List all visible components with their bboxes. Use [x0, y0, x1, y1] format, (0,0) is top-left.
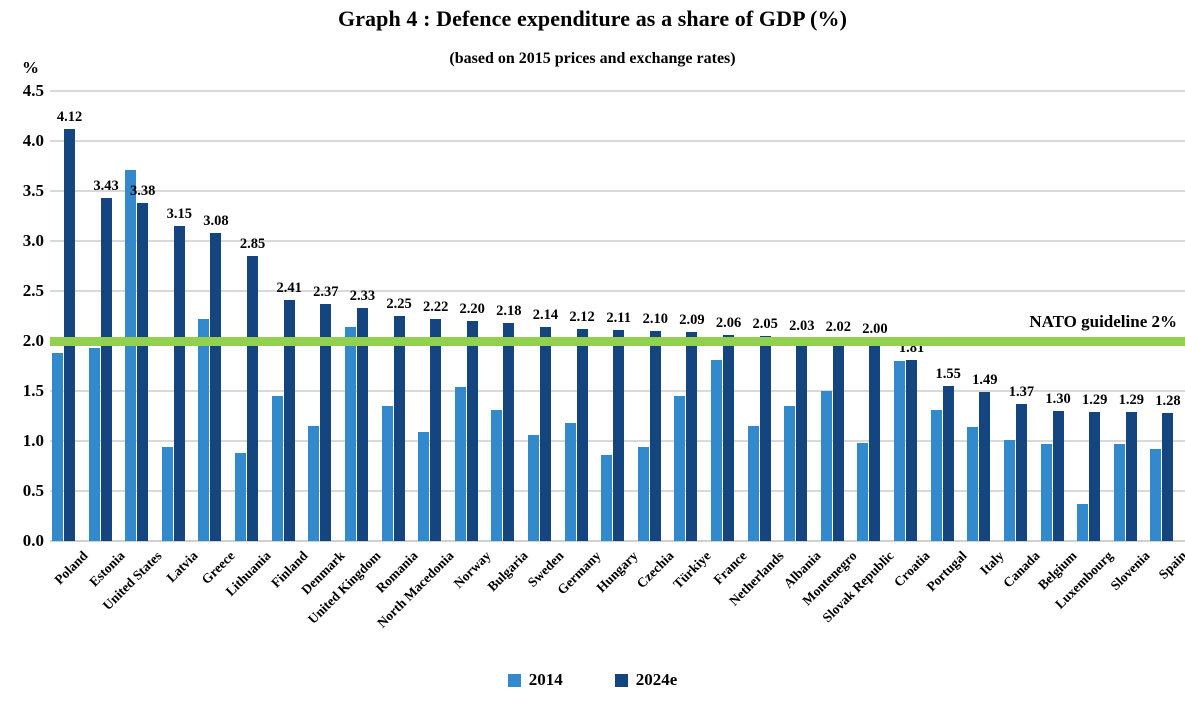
legend-item-2024e[interactable]: 2024e — [615, 670, 678, 690]
bar-group: 3.15 — [160, 91, 197, 541]
y-axis-tick-label: 0.5 — [0, 481, 44, 501]
bar-group: 1.55 — [929, 91, 966, 541]
bar-2024e[interactable] — [650, 331, 661, 541]
bar-group: 1.49 — [965, 91, 1002, 541]
bar-value-label: 1.28 — [1138, 393, 1185, 410]
y-axis-tick-label: 3.0 — [0, 231, 44, 251]
legend-label: 2024e — [636, 670, 678, 690]
bar-2014[interactable] — [711, 360, 722, 541]
bar-2024e[interactable] — [613, 330, 624, 541]
bar-2014[interactable] — [491, 410, 502, 541]
bar-2014[interactable] — [345, 327, 356, 541]
bar-2024e[interactable] — [1126, 412, 1137, 541]
bar-group: 1.81 — [892, 91, 929, 541]
bar-group: 2.02 — [819, 91, 856, 541]
bar-group: 2.25 — [380, 91, 417, 541]
bar-2024e[interactable] — [430, 319, 441, 541]
x-axis-category-label: Czechia — [634, 548, 678, 592]
legend-label: 2014 — [529, 670, 563, 690]
bar-group: 2.41 — [270, 91, 307, 541]
bar-2014[interactable] — [198, 319, 209, 541]
bar-2014[interactable] — [565, 423, 576, 541]
bar-2024e[interactable] — [210, 233, 221, 541]
bar-2014[interactable] — [162, 447, 173, 541]
bar-2014[interactable] — [382, 406, 393, 541]
bar-2024e[interactable] — [64, 129, 75, 541]
bar-2024e[interactable] — [1089, 412, 1100, 541]
bar-2024e[interactable] — [869, 341, 880, 541]
legend-swatch-icon — [508, 674, 521, 687]
bar-2014[interactable] — [52, 353, 63, 541]
bar-2014[interactable] — [857, 443, 868, 541]
chart-legend: 20142024e — [0, 670, 1185, 690]
bar-2024e[interactable] — [1016, 404, 1027, 541]
bar-2024e[interactable] — [1162, 413, 1173, 541]
x-axis-category-label: Italy — [977, 548, 1007, 578]
x-axis-category-label: Spain — [1155, 548, 1185, 583]
bar-group: 3.43 — [87, 91, 124, 541]
x-axis-category-label: Latvia — [164, 548, 202, 586]
bar-2014[interactable] — [1114, 444, 1125, 541]
x-axis-category-label: Türkiye — [670, 548, 714, 592]
legend-item-2014[interactable]: 2014 — [508, 670, 563, 690]
plot-area: 0.00.51.01.52.02.53.03.54.04.5 4.123.433… — [50, 91, 1185, 541]
bar-2014[interactable] — [418, 432, 429, 541]
bar-2014[interactable] — [674, 396, 685, 541]
bar-group: 2.00 — [855, 91, 892, 541]
y-axis-tick-label: 1.5 — [0, 381, 44, 401]
bar-2014[interactable] — [821, 391, 832, 541]
bar-2014[interactable] — [1041, 444, 1052, 541]
y-axis-tick-label: 2.5 — [0, 281, 44, 301]
bar-2014[interactable] — [272, 396, 283, 541]
bar-group: 2.37 — [306, 91, 343, 541]
bar-2024e[interactable] — [979, 392, 990, 541]
x-axis-category-label: Poland — [52, 548, 92, 588]
bar-group: 2.03 — [782, 91, 819, 541]
bar-2024e[interactable] — [686, 332, 697, 541]
bar-group: 2.33 — [343, 91, 380, 541]
page-title: Graph 4 : Defence expenditure as a share… — [0, 6, 1185, 32]
nato-guideline-label: NATO guideline 2% — [1029, 312, 1177, 332]
y-axis-tick-label: 2.0 — [0, 331, 44, 351]
bar-2014[interactable] — [528, 435, 539, 541]
bar-2024e[interactable] — [760, 336, 771, 541]
bar-2024e[interactable] — [503, 323, 514, 541]
bar-2014[interactable] — [1150, 449, 1161, 541]
x-axis-category-label: Slovenia — [1108, 548, 1154, 594]
bar-group: 3.08 — [196, 91, 233, 541]
bar-2024e[interactable] — [723, 335, 734, 541]
bar-2014[interactable] — [601, 455, 612, 541]
bar-group: 3.38 — [123, 91, 160, 541]
bar-2014[interactable] — [931, 410, 942, 541]
y-axis-tick-label: 1.0 — [0, 431, 44, 451]
bar-group: 4.12 — [50, 91, 87, 541]
bar-2024e[interactable] — [540, 327, 551, 541]
y-axis-tick-label: 0.0 — [0, 531, 44, 551]
bar-2014[interactable] — [1077, 504, 1088, 541]
bar-2014[interactable] — [894, 361, 905, 541]
y-axis-tick-label: 4.0 — [0, 131, 44, 151]
y-axis-tick-label: 3.5 — [0, 181, 44, 201]
bar-2014[interactable] — [455, 387, 466, 541]
bar-2024e[interactable] — [247, 256, 258, 541]
bar-2024e[interactable] — [394, 316, 405, 541]
bar-group: 2.85 — [233, 91, 270, 541]
bar-2014[interactable] — [308, 426, 319, 541]
bar-group: 2.05 — [746, 91, 783, 541]
bar-2014[interactable] — [784, 406, 795, 541]
bar-2014[interactable] — [89, 348, 100, 541]
bar-2014[interactable] — [748, 426, 759, 541]
bar-2024e[interactable] — [906, 360, 917, 541]
bar-2024e[interactable] — [796, 338, 807, 541]
y-axis-unit-label: % — [22, 58, 39, 78]
legend-swatch-icon — [615, 674, 628, 687]
bar-2014[interactable] — [1004, 440, 1015, 541]
bar-2024e[interactable] — [137, 203, 148, 541]
bar-2024e[interactable] — [943, 386, 954, 541]
bar-2024e[interactable] — [101, 198, 112, 541]
bar-2024e[interactable] — [1053, 411, 1064, 541]
chart-subtitle: (based on 2015 prices and exchange rates… — [0, 50, 1185, 68]
bar-2024e[interactable] — [833, 339, 844, 541]
bar-2014[interactable] — [638, 447, 649, 541]
nato-guideline-line — [50, 337, 1185, 346]
y-axis-tick-label: 4.5 — [0, 81, 44, 101]
bar-2014[interactable] — [967, 427, 978, 541]
bar-2024e[interactable] — [174, 226, 185, 541]
x-axis-category-label: Portugal — [923, 548, 970, 595]
bar-2014[interactable] — [125, 170, 136, 541]
bar-2024e[interactable] — [467, 321, 478, 541]
bar-2024e[interactable] — [577, 329, 588, 541]
bar-2014[interactable] — [235, 453, 246, 541]
